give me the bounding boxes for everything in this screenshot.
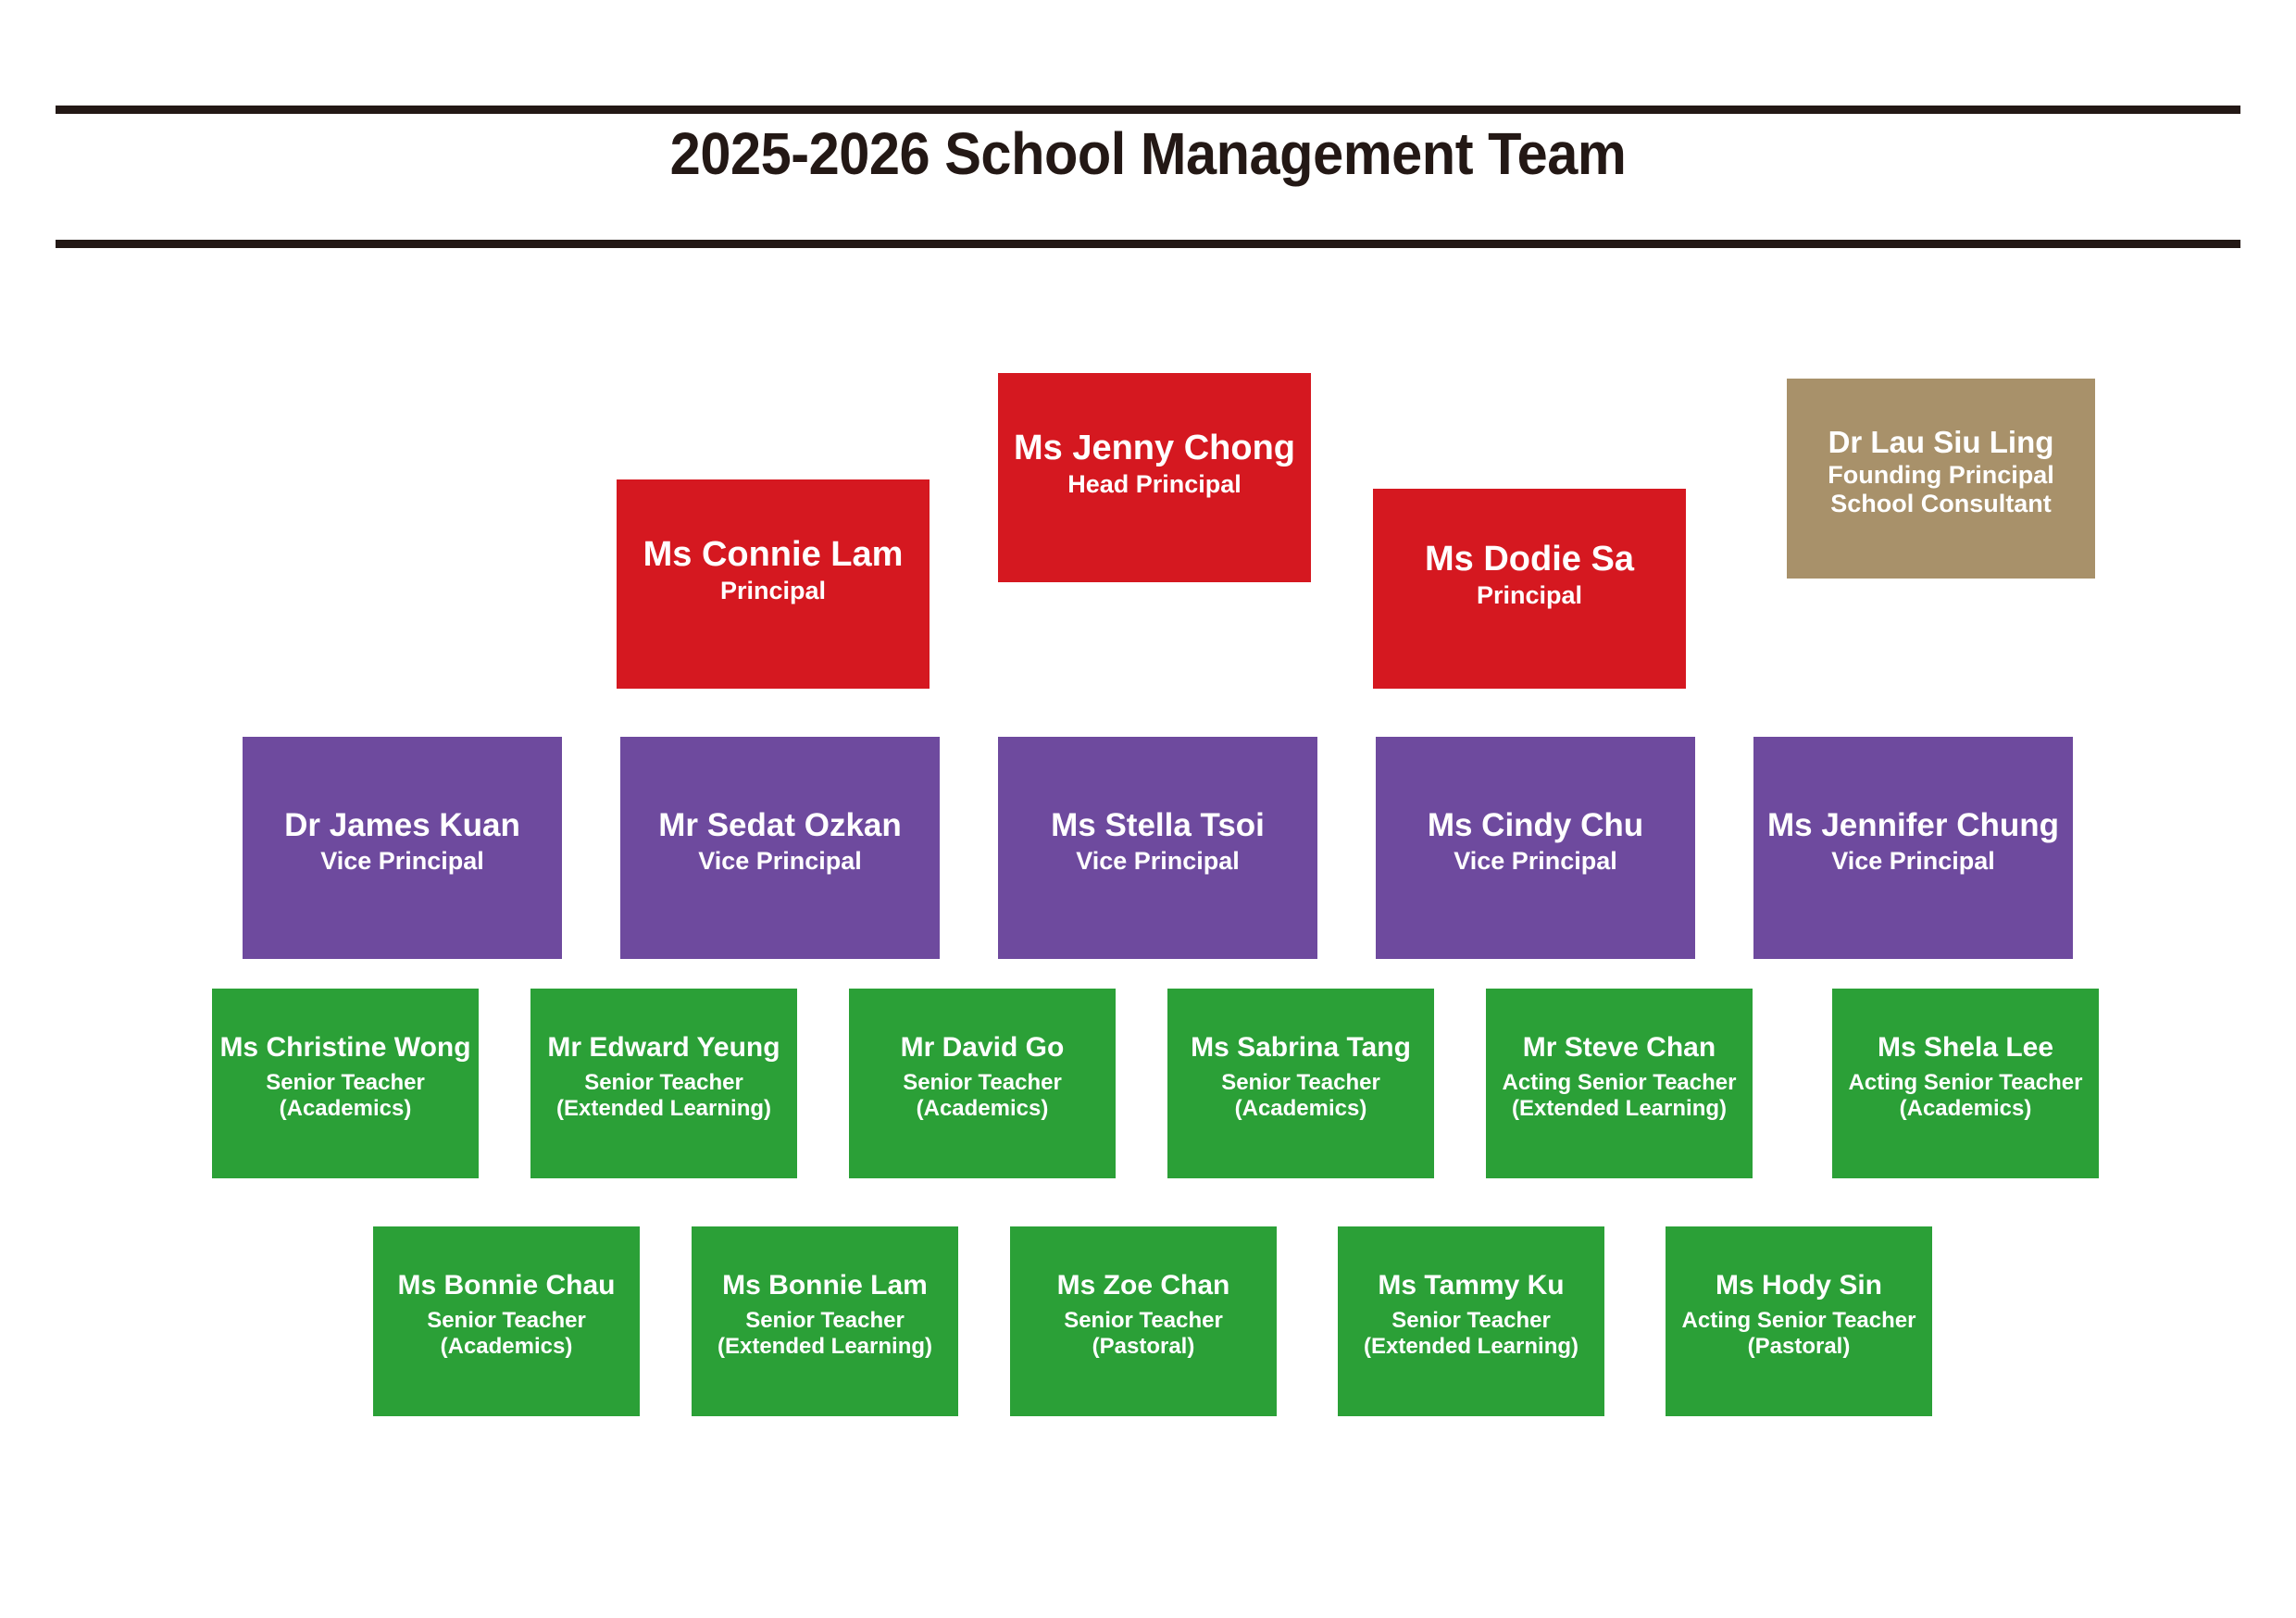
node-name: Ms Bonnie Lam [722, 1270, 928, 1301]
node-title-line1: Senior Teacher [584, 1070, 743, 1096]
node-title-line2: (Extended Learning) [1512, 1096, 1727, 1122]
node-title-line2: (Extended Learning) [1364, 1334, 1578, 1360]
node-title-line1: Senior Teacher [1064, 1308, 1223, 1334]
node-title-line2: School Consultant [1830, 490, 2052, 518]
node-senior-teacher-3[interactable]: Mr David Go Senior Teacher (Academics) [849, 989, 1116, 1178]
node-vice-principal-5[interactable]: Ms Jennifer Chung Vice Principal [1753, 737, 2073, 959]
node-title-line1: Founding Principal [1828, 461, 2054, 490]
node-title-line1: Senior Teacher [745, 1308, 905, 1334]
node-title-line1: Senior Teacher [1221, 1070, 1380, 1096]
node-name: Ms Jenny Chong [1014, 429, 1295, 468]
node-title-line2: (Pastoral) [1092, 1334, 1195, 1360]
node-title: Principal [1477, 581, 1582, 610]
chart-header: 2025-2026 School Management Team [0, 0, 2296, 259]
org-chart-page: 2025-2026 School Management Team Ms Jenn… [0, 0, 2296, 1618]
header-rule-top [56, 106, 2240, 114]
node-title: Vice Principal [320, 847, 484, 876]
node-name: Mr Steve Chan [1523, 1032, 1716, 1064]
node-title-line1: Acting Senior Teacher [1849, 1070, 2083, 1096]
node-senior-teacher-11[interactable]: Ms Hody Sin Acting Senior Teacher (Pasto… [1666, 1226, 1932, 1416]
node-name: Ms Shela Lee [1878, 1032, 2053, 1064]
node-title-line1: Senior Teacher [903, 1070, 1062, 1096]
node-name: Ms Bonnie Chau [397, 1270, 615, 1301]
node-senior-teacher-8[interactable]: Ms Bonnie Lam Senior Teacher (Extended L… [692, 1226, 958, 1416]
node-senior-teacher-2[interactable]: Mr Edward Yeung Senior Teacher (Extended… [530, 989, 797, 1178]
node-title-line1: Senior Teacher [427, 1308, 586, 1334]
node-senior-teacher-10[interactable]: Ms Tammy Ku Senior Teacher (Extended Lea… [1338, 1226, 1604, 1416]
node-senior-teacher-9[interactable]: Ms Zoe Chan Senior Teacher (Pastoral) [1010, 1226, 1277, 1416]
node-title: Head Principal [1067, 470, 1242, 499]
node-title-line2: (Academics) [1900, 1096, 2032, 1122]
node-name: Ms Zoe Chan [1057, 1270, 1230, 1301]
node-head-principal[interactable]: Ms Jenny Chong Head Principal [998, 373, 1311, 582]
node-title-line2: (Academics) [917, 1096, 1049, 1122]
node-name: Ms Christine Wong [219, 1032, 470, 1064]
node-title-line2: (Academics) [441, 1334, 573, 1360]
node-title: Vice Principal [698, 847, 862, 876]
node-title-line2: (Extended Learning) [717, 1334, 932, 1360]
node-name: Mr David Go [901, 1032, 1065, 1064]
node-name: Ms Dodie Sa [1425, 540, 1634, 579]
node-title-line1: Senior Teacher [1391, 1308, 1551, 1334]
page-title: 2025-2026 School Management Team [81, 123, 2215, 185]
node-senior-teacher-7[interactable]: Ms Bonnie Chau Senior Teacher (Academics… [373, 1226, 640, 1416]
node-senior-teacher-4[interactable]: Ms Sabrina Tang Senior Teacher (Academic… [1167, 989, 1434, 1178]
node-name: Ms Tammy Ku [1378, 1270, 1564, 1301]
node-name: Ms Sabrina Tang [1191, 1032, 1411, 1064]
node-name: Mr Edward Yeung [547, 1032, 780, 1064]
node-name: Mr Sedat Ozkan [658, 807, 902, 843]
node-title: Vice Principal [1831, 847, 1995, 876]
node-name: Ms Connie Lam [643, 535, 904, 575]
node-title: Principal [720, 577, 826, 605]
node-principal-left[interactable]: Ms Connie Lam Principal [617, 479, 930, 689]
node-title-line2: (Pastoral) [1748, 1334, 1851, 1360]
node-name: Ms Hody Sin [1716, 1270, 1882, 1301]
node-title-line2: (Extended Learning) [556, 1096, 771, 1122]
header-rule-bottom [56, 240, 2240, 248]
node-senior-teacher-6[interactable]: Ms Shela Lee Acting Senior Teacher (Acad… [1832, 989, 2099, 1178]
node-vice-principal-4[interactable]: Ms Cindy Chu Vice Principal [1376, 737, 1695, 959]
node-title-line1: Acting Senior Teacher [1503, 1070, 1737, 1096]
node-title-line2: (Academics) [280, 1096, 412, 1122]
node-title: Vice Principal [1454, 847, 1617, 876]
node-vice-principal-2[interactable]: Mr Sedat Ozkan Vice Principal [620, 737, 940, 959]
node-title-line1: Senior Teacher [266, 1070, 425, 1096]
node-title-line1: Acting Senior Teacher [1682, 1308, 1916, 1334]
node-name: Ms Cindy Chu [1428, 807, 1643, 843]
node-senior-teacher-5[interactable]: Mr Steve Chan Acting Senior Teacher (Ext… [1486, 989, 1753, 1178]
node-school-consultant[interactable]: Dr Lau Siu Ling Founding Principal Schoo… [1787, 379, 2095, 579]
node-name: Dr James Kuan [284, 807, 520, 843]
node-name: Ms Jennifer Chung [1767, 807, 2059, 843]
node-title: Vice Principal [1076, 847, 1240, 876]
node-name: Ms Stella Tsoi [1051, 807, 1265, 843]
node-name: Dr Lau Siu Ling [1828, 426, 2054, 460]
node-principal-right[interactable]: Ms Dodie Sa Principal [1373, 489, 1686, 689]
node-senior-teacher-1[interactable]: Ms Christine Wong Senior Teacher (Academ… [212, 989, 479, 1178]
node-title-line2: (Academics) [1235, 1096, 1367, 1122]
node-vice-principal-3[interactable]: Ms Stella Tsoi Vice Principal [998, 737, 1317, 959]
node-vice-principal-1[interactable]: Dr James Kuan Vice Principal [243, 737, 562, 959]
